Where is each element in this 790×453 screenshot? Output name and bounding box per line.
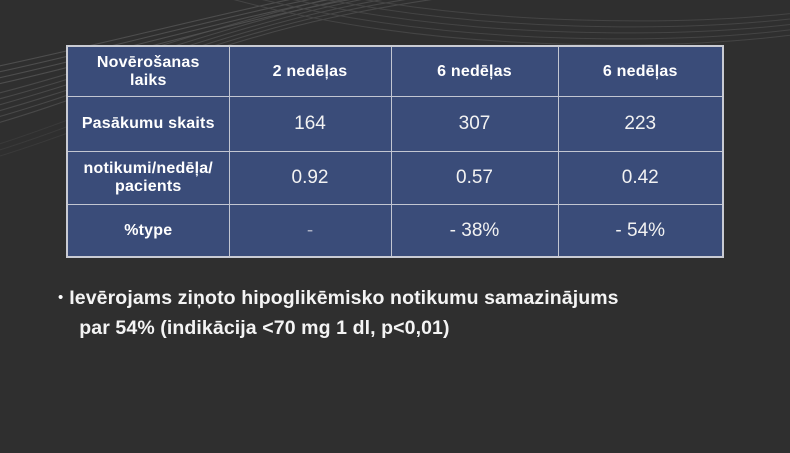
row-label-events-per-week-patient: notikumi/nedēļa/ pacients [67,152,229,205]
row-label-line1: %type [124,222,172,239]
cell-rate-2weeks: 0.92 [229,152,391,205]
cell-rate-6weeks-a: 0.57 [391,152,558,205]
cell-rate-6weeks-b: 0.42 [558,152,723,205]
cell-events-count-6weeks-a: 307 [391,97,558,152]
header-label-line2: laiks [130,72,167,89]
cell-value: 0.57 [456,167,493,188]
row-label-line1: Pasākumu skaits [82,115,215,132]
results-table: Novērošanas laiks 2 nedēļas 6 nedēļas 6 … [66,45,724,258]
header-label-line1: Novērošanas [97,54,200,71]
slide-canvas: Novērošanas laiks 2 nedēļas 6 nedēļas 6 … [0,0,790,453]
cell-value: 164 [294,113,326,134]
row-label-line1: notikumi/nedēļa/ [84,160,213,177]
cell-value: 0.42 [622,167,659,188]
cell-events-count-2weeks: 164 [229,97,391,152]
bullet-marker-icon: • [58,283,63,313]
header-label-col3: 6 nedēļas [437,63,512,80]
cell-value: 223 [624,113,656,134]
cell-percent-6weeks-a: - 38% [391,205,558,258]
table-header-cell-2weeks: 2 nedēļas [229,46,391,97]
conclusion-text: Ievērojams ziņoto hipoglikēmisko notikum… [69,283,618,343]
row-label-line2: pacients [115,178,182,195]
conclusion-bullet: • Ievērojams ziņoto hipoglikēmisko notik… [58,283,758,343]
cell-events-count-6weeks-b: 223 [558,97,723,152]
conclusion-text-line1: Ievērojams ziņoto hipoglikēmisko notikum… [69,287,618,309]
conclusion-text-line2: par 54% (indikācija <70 mg 1 dl, p<0,01) [69,313,618,343]
header-label-col4: 6 nedēļas [603,63,678,80]
row-label-events-count: Pasākumu skaits [67,97,229,152]
table-row: %type - - 38% - 54% [67,205,723,258]
table-header-cell-6weeks-a: 6 nedēļas [391,46,558,97]
cell-value: - 54% [615,220,665,241]
row-label-percent-type: %type [67,205,229,258]
cell-value: - [307,220,313,241]
cell-percent-6weeks-b: - 54% [558,205,723,258]
results-table-container: Novērošanas laiks 2 nedēļas 6 nedēļas 6 … [66,45,722,235]
cell-value: 307 [459,113,491,134]
table-row: notikumi/nedēļa/ pacients 0.92 0.57 0.42 [67,152,723,205]
table-header-row: Novērošanas laiks 2 nedēļas 6 nedēļas 6 … [67,46,723,97]
header-label-col2: 2 nedēļas [273,63,348,80]
table-row: Pasākumu skaits 164 307 223 [67,97,723,152]
table-header-cell-6weeks-b: 6 nedēļas [558,46,723,97]
cell-value: 0.92 [292,167,329,188]
table-header-cell-metric: Novērošanas laiks [67,46,229,97]
cell-percent-2weeks: - [229,205,391,258]
cell-value: - 38% [450,220,500,241]
